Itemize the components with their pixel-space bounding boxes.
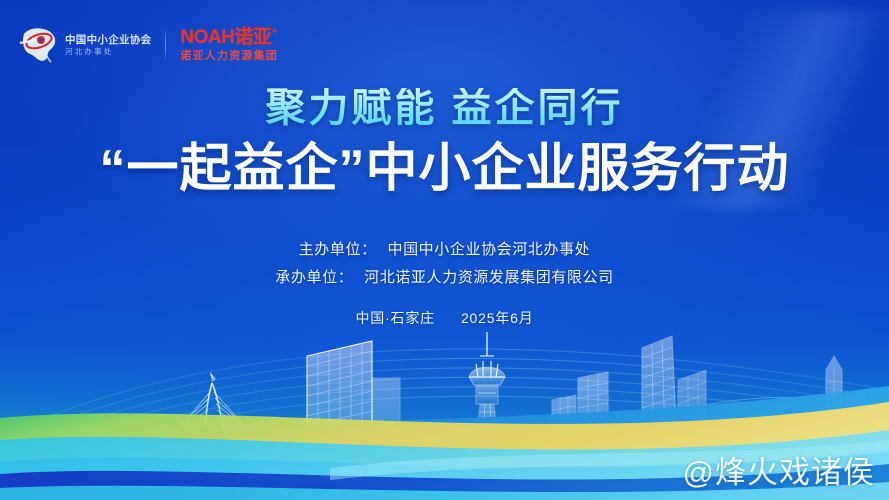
page-title: “一起益企”中小企业服务行动 <box>0 142 889 197</box>
organizer-row: 承办单位： 河北诺亚人力资源发展集团有限公司 <box>0 264 889 292</box>
association-text: 中国中小企业协会 河北办事处 <box>65 35 151 56</box>
noah-wordmark: NOAH 诺亚 ® <box>180 28 278 47</box>
event-meta-row: 中国·石家庄 2025年6月 <box>356 308 534 328</box>
slogan-text: 聚力赋能 益企同行 <box>265 88 623 128</box>
poster-canvas: 中国中小企业协会 河北办事处 NOAH 诺亚 ® 诺亚人力资源集团 聚力赋能 益… <box>0 0 889 500</box>
vertical-divider-icon <box>165 28 166 62</box>
title-block: 聚力赋能 益企同行 “一起益企”中小企业服务行动 <box>0 88 889 197</box>
coorganizer-value: 河北诺亚人力资源发展集团有限公司 <box>364 269 614 286</box>
coorganizer-label: 承办单位： <box>275 269 353 286</box>
sponsor-name: 诺亚人力资源集团 <box>180 51 278 62</box>
organizer-row: 主办单位： 中国中小企业协会河北办事处 <box>0 236 889 264</box>
china-sme-association-map-logo <box>16 24 60 66</box>
trademark-icon: ® <box>272 29 276 35</box>
noah-wordmark-suffix: 诺亚 <box>234 28 271 47</box>
china-map-icon <box>16 24 60 66</box>
host-value: 中国中小企业协会河北办事处 <box>387 241 590 258</box>
host-label: 主办单位： <box>299 241 377 258</box>
event-meta-block: 中国·石家庄 2025年6月 <box>0 308 889 328</box>
noah-wordmark-text: NOAH <box>180 28 234 47</box>
association-logo-block[interactable]: 中国中小企业协会 河北办事处 <box>16 24 151 66</box>
association-branch: 河北办事处 <box>65 48 151 56</box>
sponsor-logo-block[interactable]: NOAH 诺亚 ® 诺亚人力资源集团 <box>180 28 278 62</box>
watermark-text: @烽火戏诸侯 <box>683 447 875 492</box>
organizer-block: 主办单位： 中国中小企业协会河北办事处 承办单位： 河北诺亚人力资源发展集团有限… <box>0 236 889 292</box>
association-name: 中国中小企业协会 <box>65 35 151 46</box>
event-location: 中国·石家庄 <box>356 308 435 328</box>
logo-bar: 中国中小企业协会 河北办事处 NOAH 诺亚 ® 诺亚人力资源集团 <box>16 22 278 68</box>
event-date: 2025年6月 <box>461 308 534 328</box>
